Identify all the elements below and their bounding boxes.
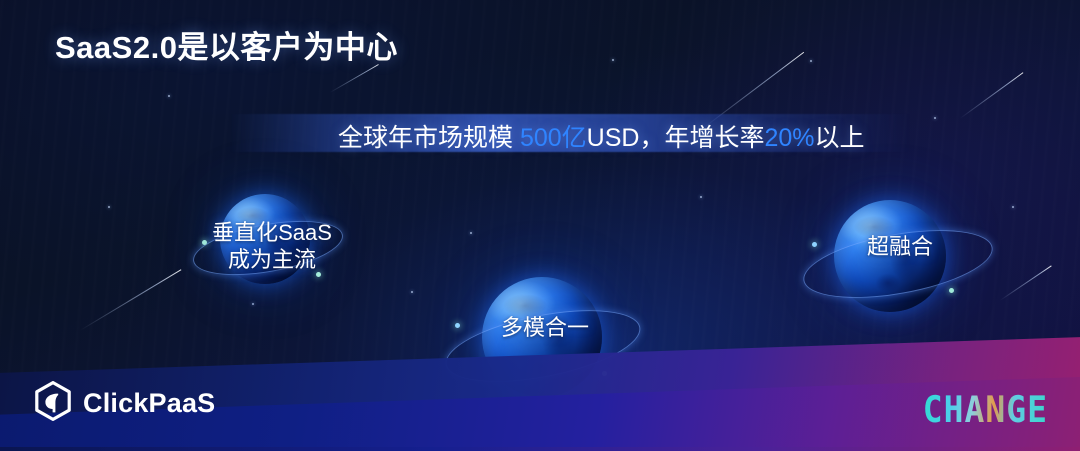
subtitle-growth-rate: 20% — [764, 124, 814, 152]
globe-label-line1: 超融合 — [800, 234, 1000, 261]
star-dot — [411, 291, 413, 293]
globe-label: 多模合一 — [440, 315, 650, 342]
globe-label: 超融合 — [800, 234, 1000, 261]
subtitle-part-pre: 全球年市场规模 — [338, 124, 520, 152]
star-dot — [108, 206, 110, 208]
star-dot — [470, 232, 472, 234]
brand-name: ClickPaaS — [83, 388, 215, 419]
globe-hyperconverged: 超融合 — [808, 186, 988, 326]
page-title: SaaS2.0是以客户为中心 — [55, 22, 398, 67]
star-dot — [168, 95, 170, 97]
globe-label-line2: 成为主流 — [162, 247, 382, 274]
globe-vertical-saas: 垂直化SaaS 成为主流 — [196, 180, 346, 320]
presentation-slide: SaaS2.0是以客户为中心 全球年市场规模 500亿USD，年增长率20%以上… — [0, 0, 1080, 451]
light-streak — [330, 64, 379, 93]
subtitle-market-size: 500亿 — [520, 124, 587, 152]
subtitle-part-post: 以上 — [815, 124, 865, 152]
change-wordmark: CHANGE — [923, 388, 1048, 431]
star-dot — [810, 60, 812, 62]
clickpaas-hexagon-icon — [34, 381, 72, 426]
star-dot — [700, 196, 702, 198]
globe-label-line1: 多模合一 — [440, 315, 650, 342]
globe-label: 垂直化SaaS 成为主流 — [162, 220, 382, 274]
subtitle-part-mid: USD，年增长率 — [587, 124, 765, 152]
light-streak — [80, 269, 182, 331]
orbit-node-dot — [949, 288, 954, 293]
globe-label-line1: 垂直化SaaS — [162, 220, 382, 247]
star-dot — [934, 117, 936, 119]
brand-logo: ClickPaaS — [34, 381, 215, 426]
footer-band-edge — [0, 447, 1080, 451]
light-streak — [1000, 265, 1052, 300]
star-dot — [612, 59, 614, 61]
star-dot — [1012, 206, 1014, 208]
light-streak — [960, 72, 1024, 119]
subtitle-text: 全球年市场规模 500亿USD，年增长率20%以上 — [338, 118, 865, 154]
